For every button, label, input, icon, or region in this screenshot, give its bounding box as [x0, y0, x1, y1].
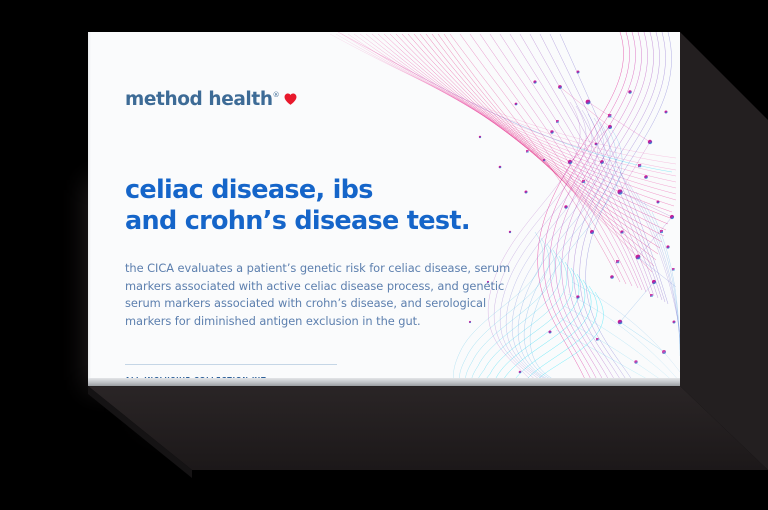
- heart-icon: [284, 93, 297, 109]
- brand-name: method health: [125, 89, 273, 110]
- headline-line-1: celiac disease, ibs: [125, 175, 545, 206]
- screenshot-canvas: method health® celiac disease, ibs and c…: [0, 0, 768, 510]
- page-title: celiac disease, ibs and crohn’s disease …: [125, 175, 545, 237]
- product-box: method health® celiac disease, ibs and c…: [88, 32, 680, 386]
- box-content: method health® celiac disease, ibs and c…: [125, 32, 555, 386]
- registered-mark: ®: [273, 91, 280, 99]
- divider: [125, 364, 337, 365]
- brand-logo: method health®: [125, 89, 297, 110]
- product-description: the CICA evaluates a patient’s genetic r…: [125, 260, 525, 330]
- box-bottom-edge: [88, 378, 680, 386]
- headline-line-2: and crohn’s disease test.: [125, 206, 545, 237]
- box-left-edge: [88, 32, 91, 386]
